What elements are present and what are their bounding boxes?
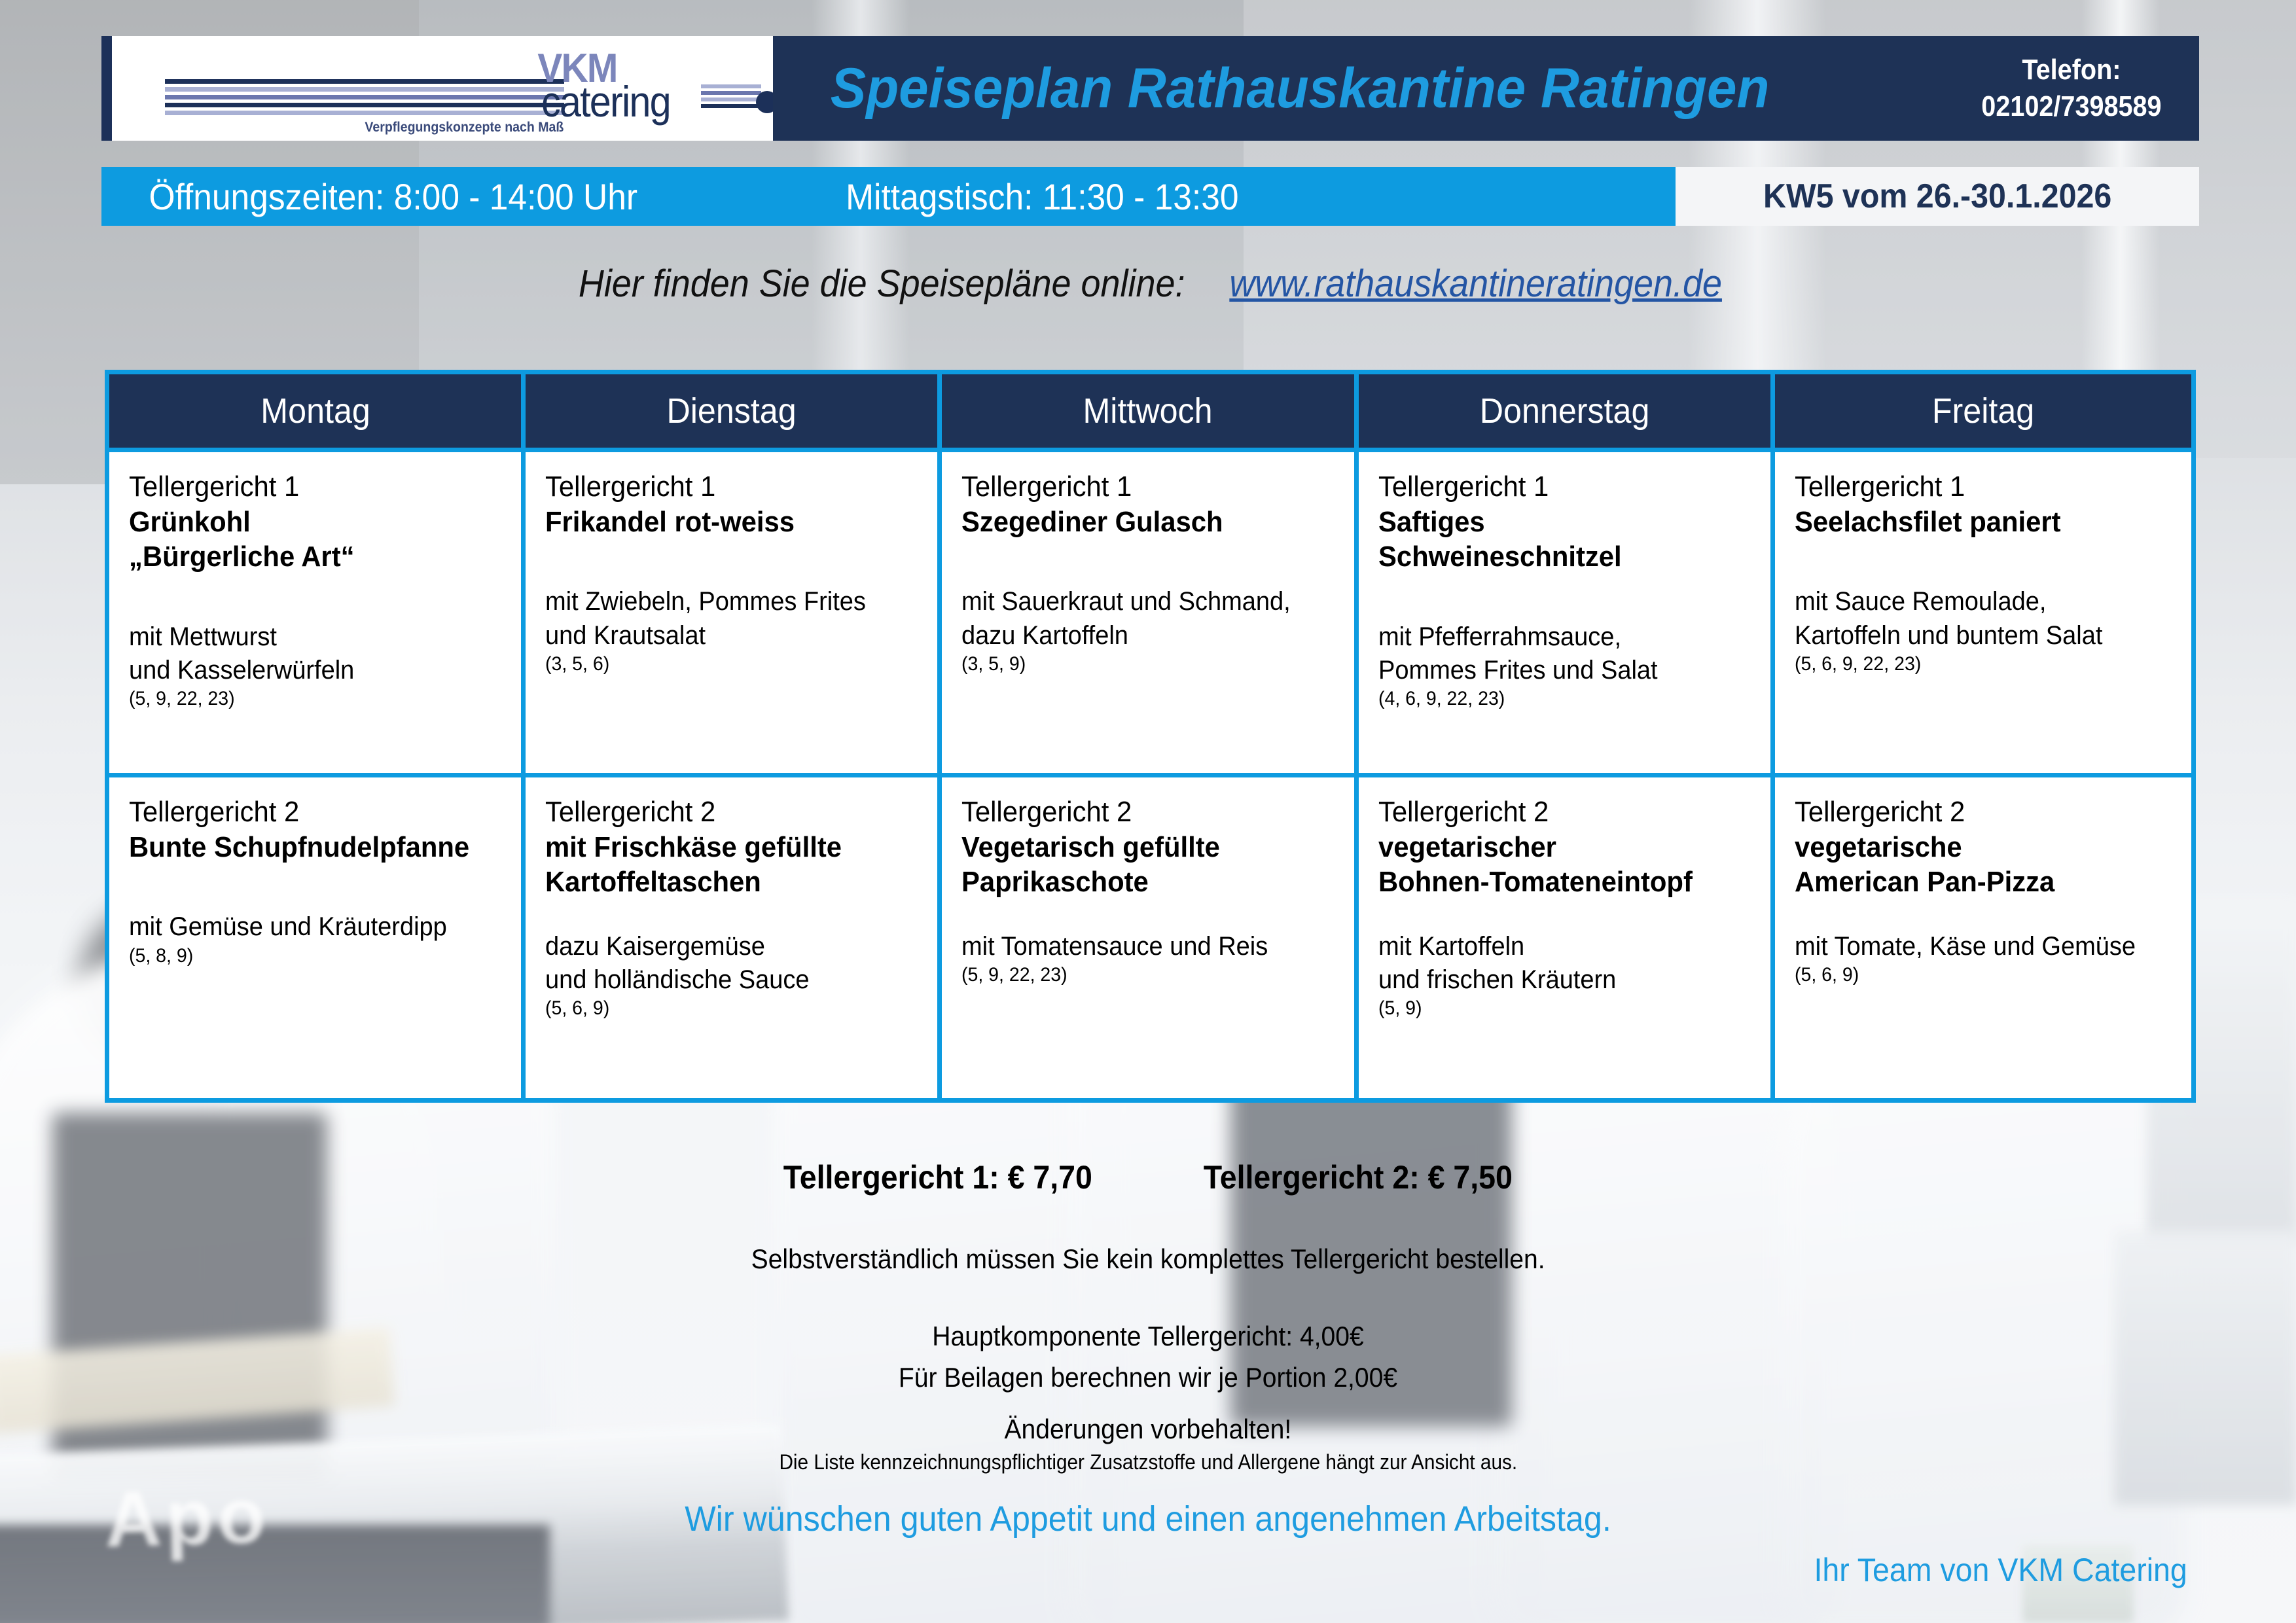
dish-label: Tellergericht 2: [1795, 794, 2155, 830]
dish-description: mit Pfefferrahmsauce,Pommes Frites und S…: [1378, 620, 1735, 687]
page-title: Speiseplan Rathauskantine Ratingen: [831, 56, 1770, 121]
price-line: Tellergericht 1: € 7,70 Tellergericht 2:…: [0, 1158, 2296, 1196]
note-main-component: Hauptkomponente Tellergericht: 4,00€: [81, 1315, 2215, 1357]
dish-description: mit Mettwurstund Kasselerwürfeln: [129, 620, 486, 687]
dish-allergens: (5, 9): [1378, 997, 1735, 1020]
dish-description: dazu Kaisergemüseund holländische Sauce: [545, 930, 902, 997]
dish-allergens: (5, 6, 9): [545, 997, 902, 1020]
wish-text: Wir wünschen guten Appetit und einen ang…: [685, 1499, 1611, 1539]
spoon-icon: [701, 82, 773, 111]
online-line: Hier finden Sie die Speisepläne online: …: [0, 262, 2296, 306]
dish-description: mit Gemüse und Kräuterdipp: [129, 910, 486, 944]
logo-subword: catering: [541, 77, 670, 126]
price-tellergericht-2: Tellergericht 2: € 7,50: [1204, 1158, 1513, 1196]
day-header-mittwoch: Mittwoch: [942, 374, 1358, 448]
phone-cell: Telefon: 02102/7398589: [1944, 36, 2199, 141]
wish-line: Wir wünschen guten Appetit und einen ang…: [0, 1499, 2296, 1539]
menu-cell[interactable]: Tellergericht 2 vegetarischerBohnen-Toma…: [1359, 777, 1775, 1098]
menu-table: Montag Dienstag Mittwoch Donnerstag Frei…: [105, 370, 2196, 1103]
logo-stripes-icon: [165, 79, 564, 118]
dish-name: Szegediner Gulasch: [961, 505, 1318, 540]
hours-band: Öffnungszeiten: 8:00 - 14:00 Uhr Mittags…: [101, 167, 2199, 226]
dish-name: vegetarischerBohnen-Tomateneintopf: [1378, 830, 1735, 900]
dish-allergens: (5, 9, 22, 23): [961, 963, 1318, 987]
note-changes-line: Änderungen vorbehalten!: [0, 1414, 2296, 1445]
dish-label: Tellergericht 1: [129, 469, 486, 505]
page-title-cell: Speiseplan Rathauskantine Ratingen: [773, 36, 1944, 141]
dish-label: Tellergericht 1: [545, 469, 902, 505]
day-label: Mittwoch: [1083, 391, 1213, 431]
dish-name: Frikandel rot-weiss: [545, 505, 902, 540]
opening-hours: Öffnungszeiten: 8:00 - 14:00 Uhr: [149, 175, 637, 218]
menu-cell[interactable]: Tellergericht 2 Bunte Schupfnudelpfanne …: [109, 777, 526, 1098]
menu-cell[interactable]: Tellergericht 1 Seelachsfilet paniert mi…: [1775, 452, 2191, 773]
dish-label: Tellergericht 1: [961, 469, 1318, 505]
calendar-week-label: KW5 vom 26.-30.1.2026: [1763, 177, 2111, 216]
header-band: VKM catering Verpflegungskonzepte nach M…: [101, 36, 2199, 141]
note-allergen-line: Die Liste kennzeichnungspflichtiger Zusa…: [0, 1450, 2296, 1474]
day-header-freitag: Freitag: [1775, 374, 2191, 448]
dish-allergens: (3, 5, 6): [545, 652, 902, 676]
dish-name: Saftiges Schweineschnitzel: [1378, 505, 1735, 575]
team-signature: Ihr Team von VKM Catering: [1814, 1551, 2187, 1589]
dish-label: Tellergericht 1: [1795, 469, 2155, 505]
dish-description: mit Kartoffelnund frischen Kräutern: [1378, 930, 1735, 997]
day-header-donnerstag: Donnerstag: [1359, 374, 1775, 448]
price-tellergericht-1: Tellergericht 1: € 7,70: [783, 1158, 1092, 1196]
dish-allergens: (5, 8, 9): [129, 944, 486, 968]
dish-allergens: (5, 9, 22, 23): [129, 687, 486, 711]
day-label: Montag: [260, 391, 370, 431]
menu-row-tellergericht-1: Tellergericht 1 Grünkohl„Bürgerliche Art…: [109, 448, 2191, 773]
menu-cell[interactable]: Tellergericht 1 Grünkohl„Bürgerliche Art…: [109, 452, 526, 773]
dish-name: Vegetarisch gefülltePaprikaschote: [961, 830, 1318, 900]
dish-name: Seelachsfilet paniert: [1795, 505, 2155, 540]
dish-label: Tellergericht 2: [129, 794, 486, 830]
dish-allergens: (3, 5, 9): [961, 652, 1318, 676]
note-optional: Selbstverständlich müssen Sie kein kompl…: [751, 1243, 1545, 1275]
hours-blue-bar: Öffnungszeiten: 8:00 - 14:00 Uhr Mittags…: [101, 167, 1676, 226]
dish-description: mit Tomatensauce und Reis: [961, 930, 1318, 963]
menu-table-header-row: Montag Dienstag Mittwoch Donnerstag Frei…: [109, 374, 2191, 448]
dish-label: Tellergericht 2: [1378, 794, 1735, 830]
dish-name: vegetarischeAmerican Pan-Pizza: [1795, 830, 2155, 900]
dish-description: mit Sauce Remoulade,Kartoffeln und bunte…: [1795, 585, 2155, 652]
calendar-week-box: KW5 vom 26.-30.1.2026: [1676, 167, 2199, 226]
vkm-catering-logo: VKM catering Verpflegungskonzepte nach M…: [141, 43, 744, 134]
phone-number: 02102/7398589: [1981, 90, 2161, 123]
menu-cell[interactable]: Tellergericht 2 vegetarischeAmerican Pan…: [1775, 777, 2191, 1098]
note-sides: Für Beilagen berechnen wir je Portion 2,…: [81, 1357, 2215, 1398]
menu-cell[interactable]: Tellergericht 1 Frikandel rot-weiss mit …: [526, 452, 942, 773]
dish-label: Tellergericht 1: [1378, 469, 1735, 505]
day-label: Donnerstag: [1479, 391, 1649, 431]
note-changes: Änderungen vorbehalten!: [1005, 1414, 1292, 1445]
day-header-dienstag: Dienstag: [526, 374, 942, 448]
day-header-montag: Montag: [109, 374, 526, 448]
dish-description: mit Sauerkraut und Schmand,dazu Kartoffe…: [961, 585, 1318, 652]
dish-allergens: (4, 6, 9, 22, 23): [1378, 687, 1735, 711]
team-line: Ihr Team von VKM Catering: [0, 1551, 2296, 1589]
menu-website-link[interactable]: www.rathauskantineratingen.de: [1229, 262, 1722, 306]
dish-label: Tellergericht 2: [545, 794, 902, 830]
menu-cell[interactable]: Tellergericht 2 mit Frischkäse gefüllteK…: [526, 777, 942, 1098]
logo-cell: VKM catering Verpflegungskonzepte nach M…: [101, 36, 773, 141]
menu-cell[interactable]: Tellergericht 1 Saftiges Schweineschnitz…: [1359, 452, 1775, 773]
note-optional-line: Selbstverständlich müssen Sie kein kompl…: [0, 1243, 2296, 1275]
dish-label: Tellergericht 2: [961, 794, 1318, 830]
dish-allergens: (5, 6, 9, 22, 23): [1795, 652, 2155, 676]
menu-cell[interactable]: Tellergericht 2 Vegetarisch gefülltePapr…: [942, 777, 1358, 1098]
dish-description: mit Tomate, Käse und Gemüse: [1795, 930, 2155, 963]
menu-row-tellergericht-2: Tellergericht 2 Bunte Schupfnudelpfanne …: [109, 773, 2191, 1098]
phone-label: Telefon:: [2022, 54, 2121, 86]
day-label: Dienstag: [667, 391, 797, 431]
lunch-hours: Mittagstisch: 11:30 - 13:30: [846, 175, 1239, 218]
dish-description: mit Zwiebeln, Pommes Fritesund Krautsala…: [545, 585, 902, 652]
dish-allergens: (5, 6, 9): [1795, 963, 2155, 987]
online-prefix: Hier finden Sie die Speisepläne online:: [579, 262, 1185, 306]
note-pricing-block: Hauptkomponente Tellergericht: 4,00€ Für…: [0, 1315, 2296, 1398]
note-allergen-list: Die Liste kennzeichnungspflichtiger Zusa…: [779, 1450, 1517, 1474]
menu-cell[interactable]: Tellergericht 1 Szegediner Gulasch mit S…: [942, 452, 1358, 773]
dish-name: Grünkohl„Bürgerliche Art“: [129, 505, 486, 575]
logo-tagline: Verpflegungskonzepte nach Maß: [365, 120, 564, 135]
dish-name: mit Frischkäse gefüllteKartoffeltaschen: [545, 830, 902, 900]
day-label: Freitag: [1932, 391, 2034, 431]
dish-name: Bunte Schupfnudelpfanne: [129, 830, 486, 865]
